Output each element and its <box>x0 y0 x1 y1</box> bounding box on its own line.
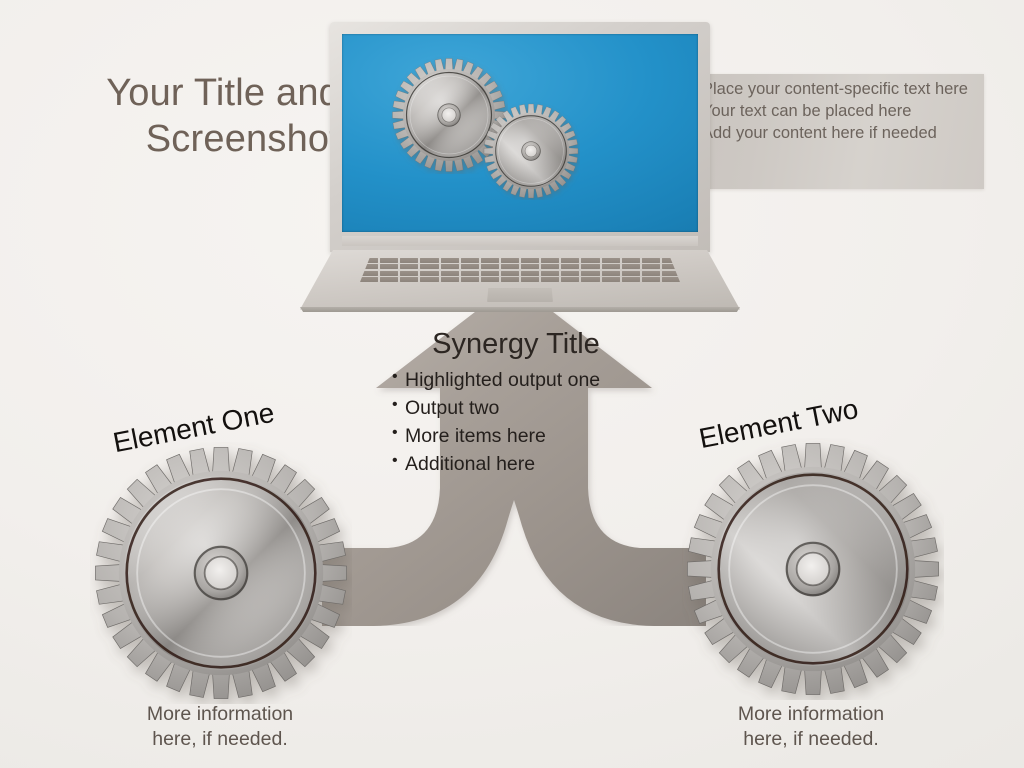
keyboard-key <box>461 258 479 263</box>
keyboard-key <box>602 271 620 276</box>
keyboard-key <box>481 264 499 269</box>
keyboard-row <box>360 277 680 282</box>
keyboard-key <box>521 277 539 282</box>
laptop-screen <box>342 34 698 232</box>
keyboard-key <box>420 277 438 282</box>
element-two-caption: More information here, if needed. <box>696 702 926 752</box>
element-two-gear-icon <box>682 438 944 700</box>
keyboard-key <box>642 271 660 276</box>
list-item: Output two <box>392 395 652 423</box>
keyboard-row <box>360 271 680 276</box>
keyboard-key <box>380 277 398 282</box>
laptop-base <box>300 250 740 312</box>
keyboard-key <box>561 258 579 263</box>
keyboard-key <box>481 271 499 276</box>
keyboard-key <box>642 264 660 269</box>
keyboard-key <box>501 271 519 276</box>
keyboard-key <box>461 264 479 269</box>
keyboard-key <box>622 258 640 263</box>
keyboard-key <box>441 271 459 276</box>
keyboard-key <box>561 277 579 282</box>
keyboard-key <box>561 271 579 276</box>
laptop-lid-foot <box>342 236 698 246</box>
keyboard-key <box>441 277 459 282</box>
keyboard-key <box>481 277 499 282</box>
keyboard-key <box>581 277 599 282</box>
keyboard-key <box>400 264 418 269</box>
keyboard-key <box>541 271 559 276</box>
keyboard-key <box>400 271 418 276</box>
laptop-base-edge <box>300 307 740 312</box>
keyboard-key <box>360 277 378 282</box>
laptop-lid <box>330 22 710 252</box>
keyboard-key <box>602 277 620 282</box>
keyboard-key <box>642 277 660 282</box>
keyboard-key <box>581 258 599 263</box>
list-item: More items here <box>392 423 652 451</box>
keyboard-key <box>461 271 479 276</box>
keyboard-key <box>602 264 620 269</box>
keyboard-key <box>561 264 579 269</box>
synergy-title: Synergy Title <box>385 328 647 361</box>
page-title: Your Title and Screenshot <box>30 70 340 163</box>
keyboard-key <box>501 258 519 263</box>
keyboard-key <box>501 264 519 269</box>
slide-canvas: Your Title and Screenshot Place your con… <box>0 0 1024 768</box>
keyboard-key <box>380 271 398 276</box>
keyboard-key <box>622 277 640 282</box>
keyboard-key <box>400 277 418 282</box>
keyboard-key <box>521 264 539 269</box>
keyboard-key <box>521 258 539 263</box>
laptop-keyboard <box>360 258 680 282</box>
keyboard-key <box>581 264 599 269</box>
keyboard-key <box>622 271 640 276</box>
keyboard-row <box>360 258 680 263</box>
keyboard-key <box>400 258 418 263</box>
element-one-caption: More information here, if needed. <box>105 702 335 752</box>
element-one-gear-icon <box>90 442 352 704</box>
keyboard-row <box>360 264 680 269</box>
keyboard-key <box>441 264 459 269</box>
keyboard-key <box>461 277 479 282</box>
keyboard-key <box>521 271 539 276</box>
laptop-trackpad <box>487 288 553 302</box>
keyboard-key <box>380 264 398 269</box>
keyboard-key <box>541 277 559 282</box>
screen-gear-small-icon <box>482 102 580 200</box>
synergy-bullet-list: Highlighted output one Output two More i… <box>392 367 652 479</box>
keyboard-key <box>420 264 438 269</box>
keyboard-key <box>380 258 398 263</box>
keyboard-key <box>581 271 599 276</box>
keyboard-key <box>420 258 438 263</box>
list-item: Additional here <box>392 451 652 479</box>
keyboard-key <box>481 258 499 263</box>
keyboard-key <box>541 258 559 263</box>
keyboard-key <box>441 258 459 263</box>
list-item: Highlighted output one <box>392 367 652 395</box>
keyboard-key <box>642 258 660 263</box>
keyboard-key <box>501 277 519 282</box>
keyboard-key <box>602 258 620 263</box>
keyboard-key <box>662 277 680 282</box>
keyboard-key <box>622 264 640 269</box>
laptop-illustration <box>300 22 740 307</box>
keyboard-key <box>420 271 438 276</box>
keyboard-key <box>541 264 559 269</box>
